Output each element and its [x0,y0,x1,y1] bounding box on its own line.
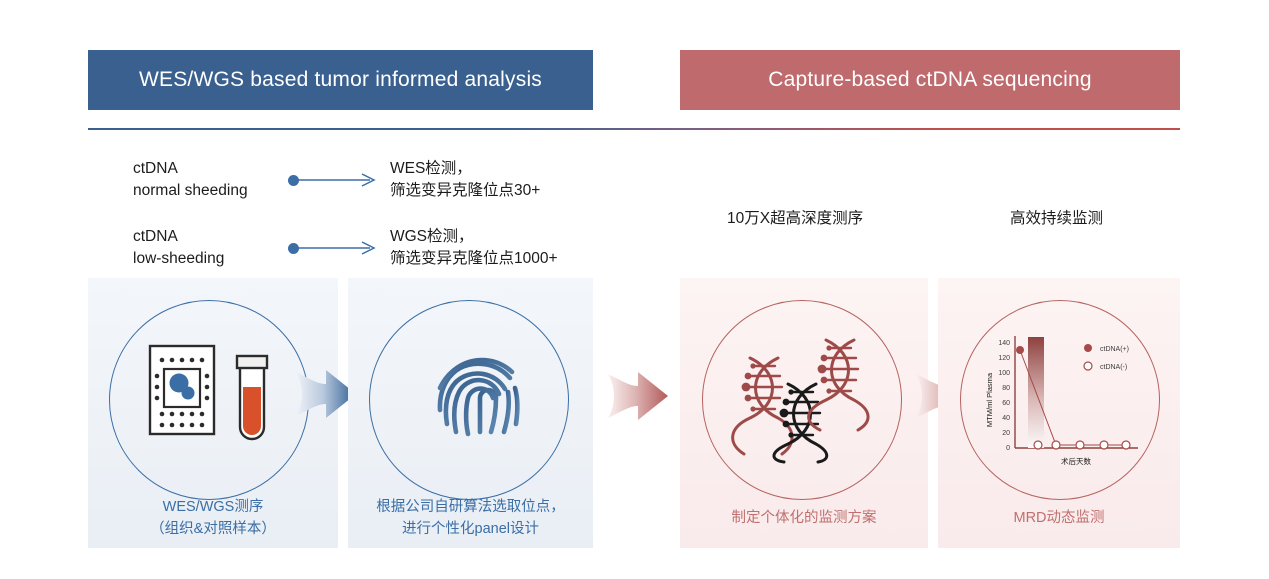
banner-wes-wgs: WES/WGS based tumor informed analysis [88,50,593,110]
caption-mrd-monitoring: MRD动态监测 [938,508,1180,530]
infographic-root: WES/WGS based tumor informed analysis Ca… [0,0,1269,579]
svg-text:100: 100 [998,370,1010,377]
annotation-row-low-shedding: ctDNA low-sheeding WGS检测， 筛选变异克隆位点1000+ [133,226,558,270]
chart-point-ctdna-positive [1016,346,1024,354]
caption-monitoring-plan: 制定个体化的监测方案 [680,508,928,530]
legend-label-positive: ctDNA(+) [1100,346,1129,353]
annotation-target-line1: WES检测， [390,158,540,180]
arrow-right-icon [296,170,380,190]
fingerprint-icon [428,348,532,452]
annotation-source-label: ctDNA low-sheeding [133,226,288,270]
arrow-right-icon [296,238,380,258]
heading-deep-sequencing: 10万X超高深度测序 [727,206,863,228]
chart-x-axis-label: 术后天数 [1061,456,1091,466]
annotation-source-line1: ctDNA [133,158,288,180]
caption-panel-design: 根据公司自研算法选取位点， 进行个性化panel设计 [348,497,593,541]
svg-text:120: 120 [998,355,1010,362]
tissue-slide-and-blood-tube-icon [148,343,270,459]
heading-continuous-monitoring: 高效持续监测 [1010,206,1103,228]
banner-ctdna-sequencing: Capture-based ctDNA sequencing [680,50,1180,110]
svg-text:20: 20 [1002,430,1010,437]
annotation-target-line2: 筛选变异克隆位点30+ [390,180,540,202]
chart-y-axis-label: MTM/ml Plasma [985,372,994,427]
svg-text:80: 80 [1002,385,1010,392]
transition-arrow-red-1 [608,368,670,424]
legend-label-negative: ctDNA(-) [1100,364,1127,371]
svg-text:40: 40 [1002,415,1010,422]
legend-marker-negative [1084,362,1092,370]
annotation-source-line1: ctDNA [133,226,288,248]
annotation-target-line1: WGS检测， [390,226,558,248]
annotation-arrow [288,238,380,258]
annotation-row-normal-shedding: ctDNA normal sheeding WES检测， 筛选变异克隆位点30+ [133,158,540,202]
chart-y-ticks: 140 120 100 80 60 40 20 0 [998,340,1010,452]
caption-line2: 进行个性化panel设计 [348,519,593,541]
svg-text:0: 0 [1006,445,1010,452]
annotation-target-label: WGS检测， 筛选变异克隆位点1000+ [390,226,558,270]
caption-line1: MRD动态监测 [938,508,1180,530]
annotation-source-label: ctDNA normal sheeding [133,158,288,202]
annotation-source-line2: normal sheeding [133,180,288,202]
caption-line2: （组织&对照样本） [88,519,338,541]
caption-line1: 制定个体化的监测方案 [680,508,928,530]
svg-text:140: 140 [998,340,1010,347]
annotation-arrow [288,170,380,190]
header-divider [88,128,1180,130]
svg-text:60: 60 [1002,400,1010,407]
chart-legend: ctDNA(+) ctDNA(-) [1084,344,1129,371]
annotation-target-line2: 筛选变异克隆位点1000+ [390,248,558,270]
annotation-target-label: WES检测， 筛选变异克隆位点30+ [390,158,540,202]
caption-line1: WES/WGS测序 [88,497,338,519]
mrd-chart: 140 120 100 80 60 40 20 0 MTM/ml Plasma [978,322,1150,472]
dna-helix-icon [726,322,878,464]
annotation-source-line2: low-sheeding [133,248,288,270]
legend-marker-positive [1084,344,1092,352]
caption-wes-wgs: WES/WGS测序 （组织&对照样本） [88,497,338,541]
caption-line1: 根据公司自研算法选取位点， [348,497,593,519]
